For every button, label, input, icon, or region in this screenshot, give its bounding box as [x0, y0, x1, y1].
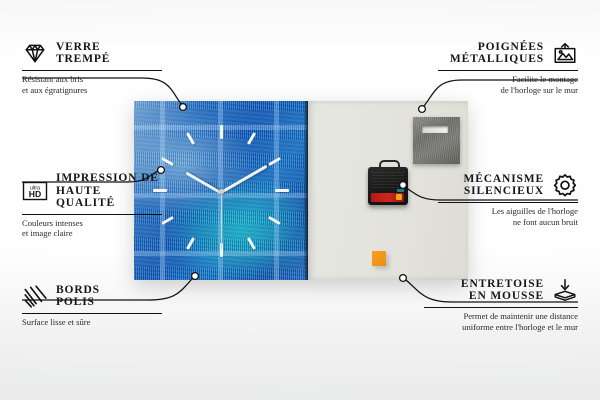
hour-marker: [275, 189, 289, 192]
callout-subtitle: Couleurs intenses et image claire: [22, 218, 162, 239]
callout-rule: [438, 70, 578, 71]
callout-rule: [424, 307, 578, 308]
callout-poignees-metalliques[interactable]: POIGNÉES MÉTALLIQUES Facilite le montage…: [438, 40, 578, 96]
infographic-canvas: VERRE TREMPÉ Résistant aux bris et aux é…: [0, 0, 600, 400]
callout-verre-trempe[interactable]: VERRE TREMPÉ Résistant aux bris et aux é…: [22, 40, 162, 96]
diamond-icon: [22, 40, 48, 66]
ultra-hd-icon: ultra HD: [22, 178, 48, 204]
clock-mechanism: [368, 167, 408, 205]
callout-subtitle: Permet de maintenir une distance uniform…: [424, 311, 578, 332]
callout-title: ENTRETOISE EN MOUSSE: [461, 278, 544, 303]
callout-subtitle: Facilite le montage de l'horloge sur le …: [438, 74, 578, 95]
wall-hanger-icon: [552, 40, 578, 66]
gear-icon: [552, 172, 578, 198]
mechanism-mark: [397, 189, 404, 192]
metal-hanger-plate: [413, 117, 460, 164]
callout-rule: [438, 202, 578, 203]
svg-text:HD: HD: [29, 189, 41, 199]
product-image: [134, 101, 468, 280]
foam-spacer: [372, 251, 386, 266]
callout-mecanisme-silencieux[interactable]: MÉCANISME SILENCIEUX Les aiguilles de l'…: [438, 172, 578, 228]
callout-subtitle: Résistant aux bris et aux égratignures: [22, 74, 162, 95]
callout-bords-polis[interactable]: BORDS POLIS Surface lisse et sûre: [22, 283, 162, 328]
callout-rule: [22, 214, 162, 215]
second-hand: [221, 191, 222, 249]
callout-entretoise-en-mousse[interactable]: ENTRETOISE EN MOUSSE Permet de maintenir…: [424, 277, 578, 333]
battery: [371, 193, 404, 202]
callout-impression-haute-qualite[interactable]: ultra HD IMPRESSION DE HAUTE QUALITÉ Cou…: [22, 172, 162, 239]
hands-hub: [219, 189, 224, 194]
hour-marker: [220, 125, 223, 139]
hanger-slot: [422, 126, 448, 133]
spacer-arrow-icon: [552, 277, 578, 303]
callout-title: POIGNÉES MÉTALLIQUES: [450, 41, 544, 66]
mechanism-hook: [379, 160, 400, 171]
callout-title: BORDS POLIS: [56, 284, 100, 309]
mechanism-label: [372, 172, 404, 188]
callout-title: VERRE TREMPÉ: [56, 41, 110, 66]
callout-rule: [22, 313, 162, 314]
callout-subtitle: Surface lisse et sûre: [22, 317, 162, 328]
callout-title: IMPRESSION DE HAUTE QUALITÉ: [56, 172, 162, 210]
callout-title: MÉCANISME SILENCIEUX: [464, 173, 545, 198]
callout-subtitle: Les aiguilles de l'horloge ne font aucun…: [438, 206, 578, 227]
callout-rule: [22, 70, 162, 71]
polished-edges-icon: [22, 283, 48, 309]
